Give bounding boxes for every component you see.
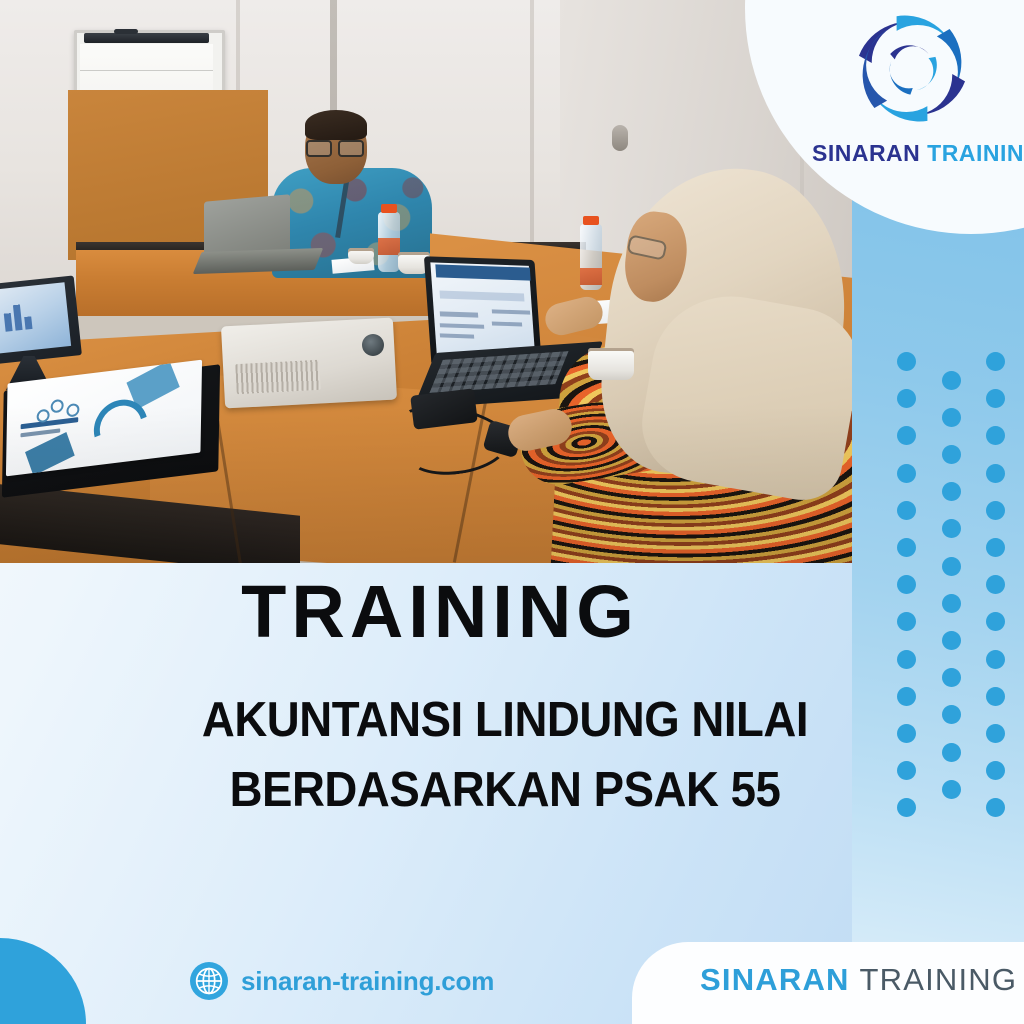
pattern-dot [986, 575, 1005, 594]
page-title: TRAINING [0, 575, 880, 649]
pattern-dot [942, 519, 961, 538]
monitor-screen-content [3, 298, 40, 331]
pattern-dot [986, 761, 1005, 780]
pattern-dot [986, 687, 1005, 706]
pattern-dot [942, 594, 961, 613]
bottle-label [580, 268, 602, 285]
projector-lens [362, 334, 384, 356]
pattern-dot [897, 501, 916, 520]
bottle-cap [381, 204, 397, 213]
pattern-dot [986, 501, 1005, 520]
pattern-dot [897, 352, 916, 371]
footer-brand: SINARAN TRAINING [700, 962, 1017, 998]
footer-brand-secondary: TRAINING [859, 962, 1017, 997]
pattern-dot [942, 668, 961, 687]
brand-logo-text-primary: SINARAN [812, 140, 920, 166]
pattern-dot [986, 464, 1005, 483]
wall-panel-line [530, 0, 534, 270]
pattern-dot [897, 650, 916, 669]
pattern-dot [942, 445, 961, 464]
pattern-dot [897, 389, 916, 408]
globe-icon [190, 962, 228, 1000]
pattern-dot [986, 389, 1005, 408]
page-subtitle: AKUNTANSI LINDUNG NILAI BERDASARKAN PSAK… [35, 686, 974, 825]
bottle-cap [583, 216, 599, 225]
pattern-dot [897, 464, 916, 483]
pattern-dot [986, 650, 1005, 669]
pattern-dot [942, 631, 961, 650]
brand-logo: SINARAN TRAINING [812, 10, 1012, 180]
male-participant-hair [305, 110, 367, 140]
flipchart-clip [84, 33, 209, 43]
pattern-dot [897, 575, 916, 594]
bottle-label [378, 238, 400, 255]
website-link[interactable]: sinaran-training.com [190, 962, 494, 1000]
website-url-text[interactable]: sinaran-training.com [241, 966, 494, 997]
page-subtitle-line-2: BERDASARKAN PSAK 55 [35, 756, 974, 826]
brand-logo-text: SINARAN TRAINING [812, 140, 1012, 167]
pattern-dot [986, 352, 1005, 371]
bottom-left-corner-circle [0, 938, 86, 1024]
pattern-dot [942, 557, 961, 576]
pattern-dot [897, 538, 916, 557]
footer-brand-primary: SINARAN [700, 962, 850, 997]
coffee-cup [348, 248, 374, 264]
laptop-base [193, 248, 324, 274]
coffee-cup [588, 348, 634, 380]
poster-canvas: SINARAN TRAINING TRAINING AKUNTANSI LIND… [0, 0, 1024, 1024]
pattern-dot [986, 538, 1005, 557]
page-subtitle-line-1: AKUNTANSI LINDUNG NILAI [35, 686, 974, 756]
pattern-dot [942, 371, 961, 390]
pattern-dot [986, 798, 1005, 817]
brand-logo-text-secondary: TRAINING [927, 140, 1024, 166]
pattern-dot [942, 482, 961, 501]
projector-vent [235, 360, 320, 394]
pattern-dot [942, 408, 961, 427]
pattern-dot [986, 724, 1005, 743]
eyeglasses [306, 140, 364, 153]
training-photo [0, 0, 853, 563]
pattern-dot [986, 426, 1005, 445]
door-knob [612, 125, 628, 151]
pattern-dot [897, 426, 916, 445]
sinaran-swirl-logo-icon [838, 10, 986, 138]
pattern-dot [986, 612, 1005, 631]
pattern-dot [897, 612, 916, 631]
